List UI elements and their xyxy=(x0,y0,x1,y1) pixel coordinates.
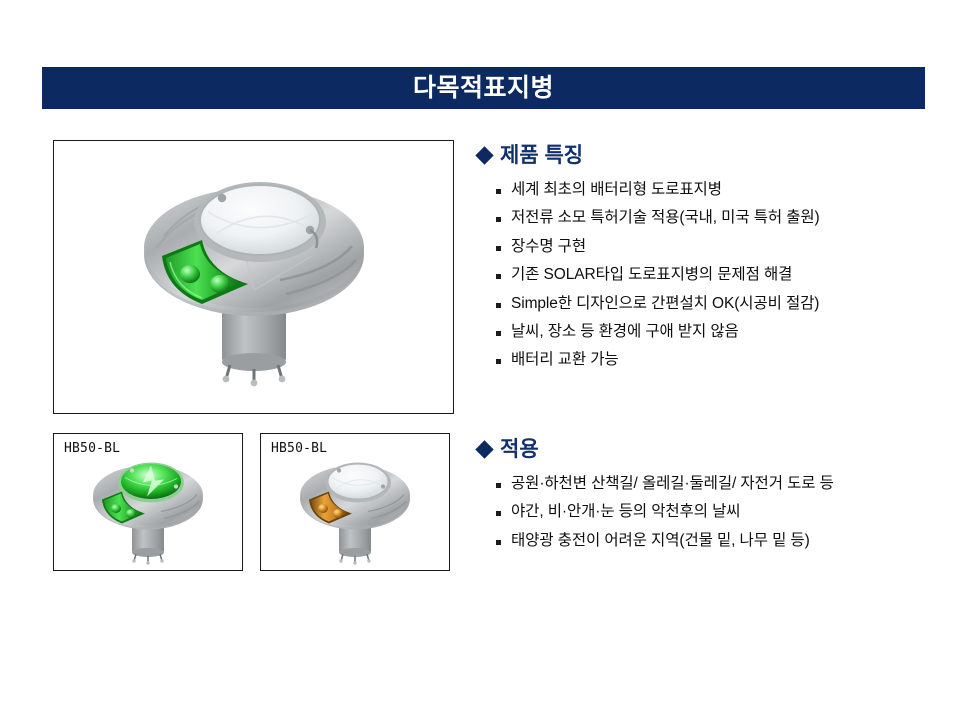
feature-text: 장수명 구현 xyxy=(511,237,586,256)
page-title-bar: 다목적표지병 xyxy=(42,67,925,109)
feature-text: 기존 SOLAR타입 도로표지병의 문제점 해결 xyxy=(511,265,792,284)
square-bullet-icon xyxy=(496,359,501,364)
list-item: 날씨, 장소 등 환경에 구애 받지 않음 xyxy=(496,318,820,346)
list-item: 배터리 교환 가능 xyxy=(496,346,820,374)
application-list: 공원·하천변 산책길/ 올레길·둘레길/ 자전거 도로 등 야간, 비·안개·눈… xyxy=(478,470,834,555)
application-text: 야간, 비·안개·눈 등의 악천후의 날씨 xyxy=(511,502,740,521)
section-application-header: 적용 xyxy=(478,438,834,461)
list-item: 공원·하천변 산책길/ 올레길·둘레길/ 자전거 도로 등 xyxy=(496,470,834,498)
product-illustration-thumb-amber xyxy=(280,448,430,571)
square-bullet-icon xyxy=(496,511,501,516)
square-bullet-icon xyxy=(496,303,501,308)
product-top-lens-lit xyxy=(118,463,184,503)
feature-text: 세계 최초의 배터리형 도로표지병 xyxy=(511,180,722,199)
section-application-title: 적용 xyxy=(500,438,539,461)
diamond-bullet-icon xyxy=(475,440,493,458)
features-list: 세계 최초의 배터리형 도로표지병 저전류 소모 특허기술 적용(국내, 미국 … xyxy=(478,176,820,375)
section-features: 제품 특징 세계 최초의 배터리형 도로표지병 저전류 소모 특허기술 적용(국… xyxy=(478,144,820,375)
diamond-bullet-icon xyxy=(475,146,493,164)
square-bullet-icon xyxy=(496,217,501,222)
feature-text: 날씨, 장소 등 환경에 구애 받지 않음 xyxy=(511,322,739,341)
thumbnail-figure-2: HB50-BL xyxy=(260,433,450,571)
list-item: 태양광 충전이 어려운 지역(건물 밑, 나무 밑 등) xyxy=(496,527,834,555)
square-bullet-icon xyxy=(496,540,501,545)
section-features-title: 제품 특징 xyxy=(500,144,583,167)
square-bullet-icon xyxy=(496,246,501,251)
feature-text: 배터리 교환 가능 xyxy=(511,350,619,369)
list-item: 기존 SOLAR타입 도로표지병의 문제점 해결 xyxy=(496,261,820,289)
list-item: Simple한 디자인으로 간편설치 OK(시공비 절감) xyxy=(496,290,820,318)
list-item: 야간, 비·안개·눈 등의 악천후의 날씨 xyxy=(496,498,834,526)
thumbnail-label-1: HB50-BL xyxy=(64,441,120,456)
square-bullet-icon xyxy=(496,331,501,336)
list-item: 장수명 구현 xyxy=(496,233,820,261)
section-features-header: 제품 특징 xyxy=(478,144,820,167)
product-illustration-main xyxy=(104,162,404,392)
product-top-lens xyxy=(194,182,326,262)
list-item: 저전류 소모 특허기술 적용(국내, 미국 특허 출원) xyxy=(496,204,820,232)
section-application: 적용 공원·하천변 산책길/ 올레길·둘레길/ 자전거 도로 등 야간, 비·안… xyxy=(478,438,834,555)
page-title: 다목적표지병 xyxy=(413,76,554,101)
application-text: 공원·하천변 산책길/ 올레길·둘레길/ 자전거 도로 등 xyxy=(511,474,834,493)
feature-text: 저전류 소모 특허기술 적용(국내, 미국 특허 출원) xyxy=(511,208,820,227)
main-product-figure xyxy=(53,140,454,414)
square-bullet-icon xyxy=(496,189,501,194)
square-bullet-icon xyxy=(496,274,501,279)
feature-text: Simple한 디자인으로 간편설치 OK(시공비 절감) xyxy=(511,294,819,313)
thumbnail-label-2: HB50-BL xyxy=(271,441,327,456)
product-top-lens xyxy=(325,463,391,503)
product-illustration-thumb-green xyxy=(73,448,223,571)
list-item: 세계 최초의 배터리형 도로표지병 xyxy=(496,176,820,204)
square-bullet-icon xyxy=(496,483,501,488)
thumbnail-figure-1: HB50-BL xyxy=(53,433,243,571)
application-text: 태양광 충전이 어려운 지역(건물 밑, 나무 밑 등) xyxy=(511,531,810,550)
